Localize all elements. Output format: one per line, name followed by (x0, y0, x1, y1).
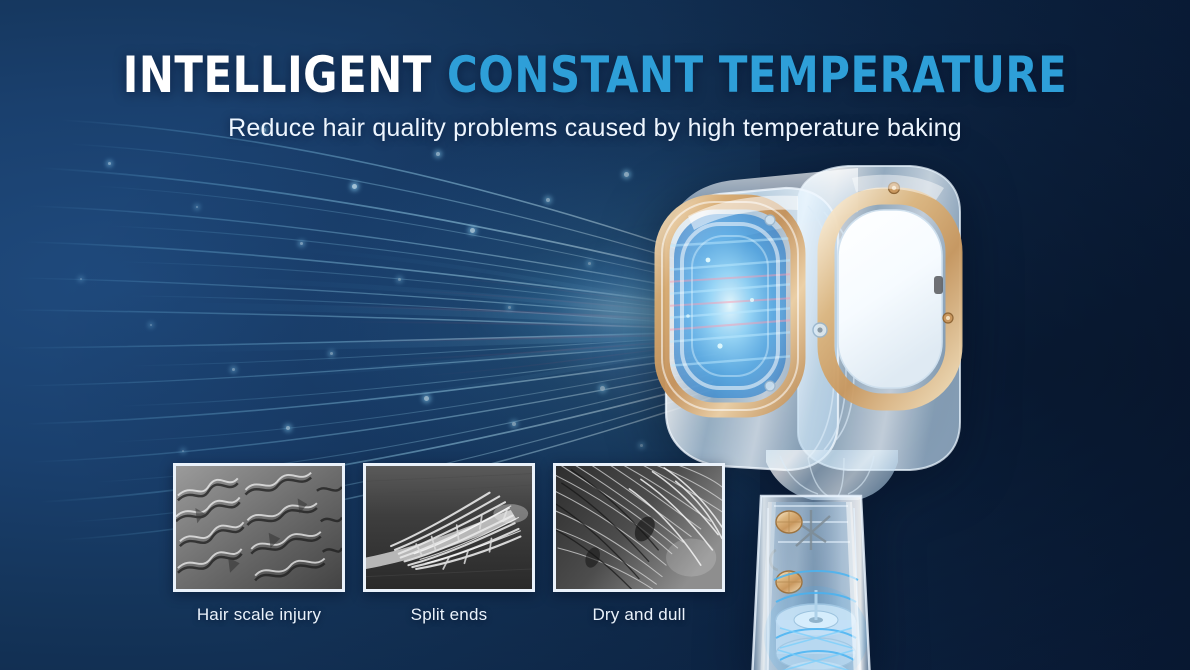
damage-examples-row: Hair scale injury (173, 463, 725, 625)
microscope-hair-cuticle-scales-image (173, 463, 345, 592)
damage-example-item: Dry and dull (553, 463, 725, 625)
page-title: INTELLIGENT CONSTANT TEMPERATURE (42, 50, 1149, 100)
microscope-dry-dull-hair-image (553, 463, 725, 592)
damage-example-caption: Split ends (363, 605, 535, 625)
damage-example-item: Split ends (363, 463, 535, 625)
damage-example-item: Hair scale injury (173, 463, 345, 625)
damage-example-caption: Hair scale injury (173, 605, 345, 625)
transparent-handle-internals (752, 496, 870, 670)
title-part-two: CONSTANT TEMPERATURE (447, 46, 1067, 104)
microscope-split-ends-image (363, 463, 535, 592)
heading-block: INTELLIGENT CONSTANT TEMPERATURE Reduce … (0, 0, 1190, 143)
page-subtitle: Reduce hair quality problems caused by h… (0, 114, 1190, 143)
front-air-outlet (666, 214, 794, 398)
title-part-one: INTELLIGENT (123, 46, 432, 104)
damage-example-caption: Dry and dull (553, 605, 725, 625)
promo-banner: INTELLIGENT CONSTANT TEMPERATURE Reduce … (0, 0, 1190, 670)
